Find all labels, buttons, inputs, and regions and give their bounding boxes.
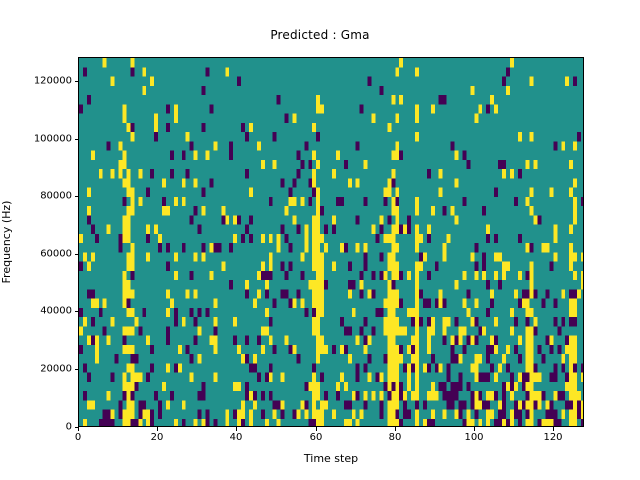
y-tick-label: 100000 (34, 134, 72, 145)
x-tick-label: 120 (543, 432, 562, 443)
x-tick-label: 100 (464, 432, 483, 443)
y-tick-mark (75, 311, 79, 312)
y-tick-mark (75, 369, 79, 370)
x-axis-label: Time step (78, 452, 584, 465)
spectrogram-heatmap (79, 58, 584, 427)
y-axis-label: Frequency (Hz) (0, 201, 13, 284)
y-tick-label: 40000 (40, 306, 72, 317)
matplotlib-figure: Predicted : Gma 020406080100120020000400… (0, 0, 640, 480)
y-tick-label: 80000 (40, 191, 72, 202)
x-tick-label: 40 (230, 432, 243, 443)
y-tick-mark (75, 196, 79, 197)
x-tick-mark (553, 427, 554, 431)
y-tick-mark (75, 254, 79, 255)
y-tick-label: 0 (66, 422, 72, 433)
x-tick-label: 60 (310, 432, 323, 443)
x-tick-mark (395, 427, 396, 431)
x-tick-mark (474, 427, 475, 431)
x-tick-mark (157, 427, 158, 431)
heatmap-axes (78, 57, 584, 427)
y-tick-mark (75, 81, 79, 82)
y-tick-mark (75, 139, 79, 140)
y-tick-mark (75, 427, 79, 428)
y-tick-label: 120000 (34, 76, 72, 87)
x-tick-mark (78, 427, 79, 431)
x-tick-label: 20 (151, 432, 164, 443)
x-tick-mark (316, 427, 317, 431)
x-tick-label: 0 (75, 432, 81, 443)
y-tick-label: 60000 (40, 249, 72, 260)
x-tick-label: 80 (389, 432, 402, 443)
page-title: Predicted : Gma (0, 28, 640, 42)
x-tick-mark (236, 427, 237, 431)
y-tick-label: 20000 (40, 364, 72, 375)
